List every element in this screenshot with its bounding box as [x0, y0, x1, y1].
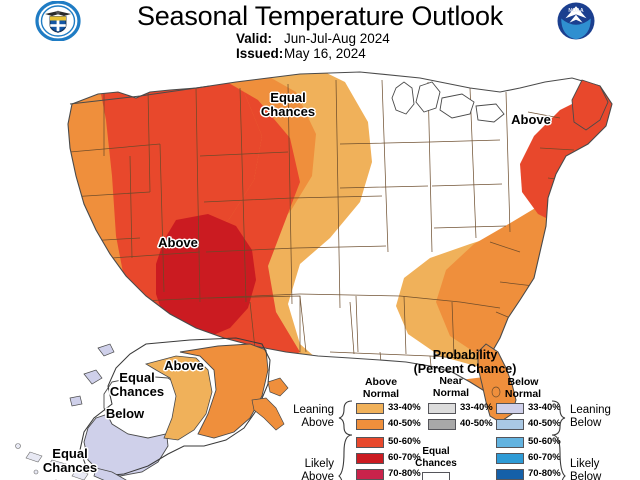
noaa-logo-text: NOAA: [568, 8, 584, 14]
legend-swatch-color: [356, 453, 384, 464]
bracket-line1: Leaning: [570, 404, 640, 417]
legend-swatch-color: [356, 469, 384, 480]
legend-swatch-label: 40-50%: [460, 418, 493, 430]
bracket-line2: Below: [570, 471, 640, 480]
legend-swatch-label: 33-40%: [388, 402, 421, 414]
legend-equal-chances-swatch: [422, 472, 450, 480]
legend-column-head-above-normal: Above Normal: [346, 377, 416, 400]
bracket-line1: Likely: [234, 458, 334, 471]
legend-bracket-likely-below: Likely Below: [570, 458, 640, 480]
likely-above-brace-icon: [338, 434, 354, 480]
outlook-map-page: Seasonal Temperature Outlook Valid:Jun-J…: [0, 0, 640, 480]
legend-swatch-color: [496, 453, 524, 464]
legend-swatch-label: 33-40%: [460, 402, 493, 414]
legend-bracket-likely-above: Likely Above: [234, 458, 334, 480]
legend-column-head-near-normal: Near Normal: [416, 376, 486, 399]
legend-swatch-color: [496, 419, 524, 430]
legend-swatch-color: [356, 403, 384, 414]
legend-title: Probability (Percent Chance): [340, 348, 590, 376]
page-title: Seasonal Temperature Outlook: [0, 0, 640, 32]
bracket-line1: Leaning: [234, 404, 334, 417]
legend-equal-chances-label: Equal Chances: [403, 446, 469, 469]
nws-seal-icon: [34, 1, 82, 41]
legend-col-head-line2: Normal: [416, 388, 486, 400]
legend-swatch-color: [428, 403, 456, 414]
legend-col-head-line1: Below: [488, 377, 558, 389]
legend-col-head-line1: Above: [346, 377, 416, 389]
valid-period-line: Valid:Jun-Jul-Aug 2024: [0, 31, 640, 46]
legend-swatch-color: [356, 419, 384, 430]
noaa-seal-icon: NOAA: [553, 1, 599, 41]
valid-value: Jun-Jul-Aug 2024: [284, 31, 390, 46]
legend-swatch-color: [496, 437, 524, 448]
legend-swatch-color: [356, 437, 384, 448]
legend-swatch-label: 70-80%: [388, 468, 421, 480]
legend-swatch-color: [428, 419, 456, 430]
probability-legend: Probability (Percent Chance) Above Norma…: [288, 348, 640, 480]
legend-column-head-below-normal: Below Normal: [488, 377, 558, 400]
valid-label: Valid:: [236, 31, 284, 46]
legend-col-head-line2: Normal: [488, 389, 558, 401]
bracket-line2: Above: [234, 471, 334, 480]
legend-col-head-line2: Normal: [346, 389, 416, 401]
legend-title-line2: (Percent Chance): [340, 362, 590, 376]
bracket-line2: Below: [570, 417, 640, 430]
legend-col-head-line1: Near: [416, 376, 486, 388]
legend-swatch-label: 40-50%: [388, 418, 421, 430]
likely-below-brace-icon: [550, 434, 566, 480]
legend-bracket-leaning-above: Leaning Above: [234, 404, 334, 429]
leaning-above-brace-icon: [338, 400, 354, 436]
legend-swatch-color: [496, 403, 524, 414]
leaning-below-brace-icon: [550, 400, 566, 436]
legend-ec-line1: Equal: [403, 446, 469, 458]
legend-ec-line2: Chances: [403, 458, 469, 470]
legend-swatch-color: [496, 469, 524, 480]
bracket-line1: Likely: [570, 458, 640, 471]
legend-bracket-leaning-below: Leaning Below: [570, 404, 640, 429]
bracket-line2: Above: [234, 417, 334, 430]
legend-title-line1: Probability: [340, 348, 590, 362]
